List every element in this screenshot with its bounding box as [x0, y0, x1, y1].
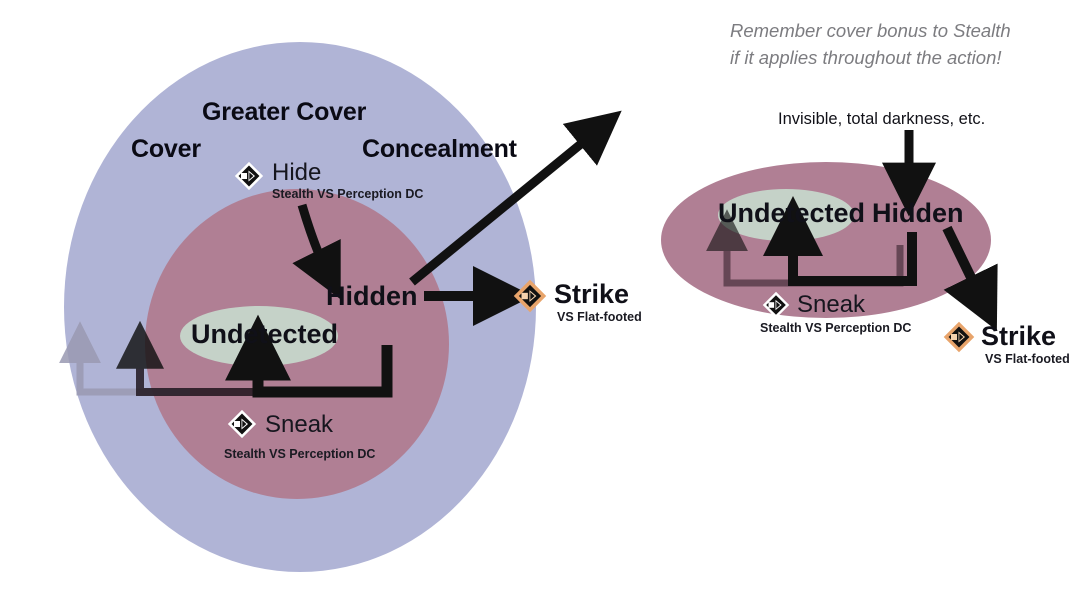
right-action-label-strike: Strike — [981, 323, 1056, 350]
diagram-canvas: Remember cover bonus to Stealth if it ap… — [0, 0, 1080, 615]
cover-bonus-note-line1: Remember cover bonus to Stealth — [730, 18, 1011, 45]
action-label-strike: Strike — [554, 281, 629, 308]
action-sub-sneak: Stealth VS Perception DC — [224, 448, 375, 461]
cover-bonus-note-line2: if it applies throughout the action! — [730, 45, 1011, 72]
pf2e-single-action-icon — [226, 408, 258, 440]
pf2e-single-action-icon — [233, 160, 265, 192]
pf2e-single-action-icon-accent — [513, 279, 547, 313]
zone-label-cover: Cover — [131, 137, 201, 162]
strike-action-icon — [513, 279, 547, 313]
action-label-hide: Hide — [272, 161, 321, 185]
right-action-sub-strike: VS Flat-footed — [985, 353, 1070, 366]
right-action-label-sneak: Sneak — [797, 293, 865, 317]
right-sneak-action-icon — [761, 290, 791, 320]
zone-label-greater-cover: Greater Cover — [202, 100, 366, 125]
cover-bonus-note: Remember cover bonus to Stealth if it ap… — [730, 18, 1011, 72]
zone-label-concealment: Concealment — [362, 137, 517, 162]
pf2e-single-action-icon-accent — [943, 321, 975, 353]
right-action-sub-sneak: Stealth VS Perception DC — [760, 322, 911, 335]
right-strike-action-icon — [943, 321, 975, 353]
action-sub-strike: VS Flat-footed — [557, 311, 642, 324]
state-label-hidden-right: Hidden — [872, 200, 964, 227]
state-label-undetected-left: Undetected — [191, 321, 338, 348]
action-label-sneak: Sneak — [265, 413, 333, 437]
action-sub-hide: Stealth VS Perception DC — [272, 188, 423, 201]
state-label-undetected-right: Undetected — [718, 200, 865, 227]
right-diagram-caption: Invisible, total darkness, etc. — [778, 111, 985, 128]
sneak-action-icon — [226, 408, 258, 440]
state-label-hidden-left: Hidden — [326, 283, 418, 310]
hide-action-icon — [233, 160, 265, 192]
pf2e-single-action-icon — [761, 290, 791, 320]
